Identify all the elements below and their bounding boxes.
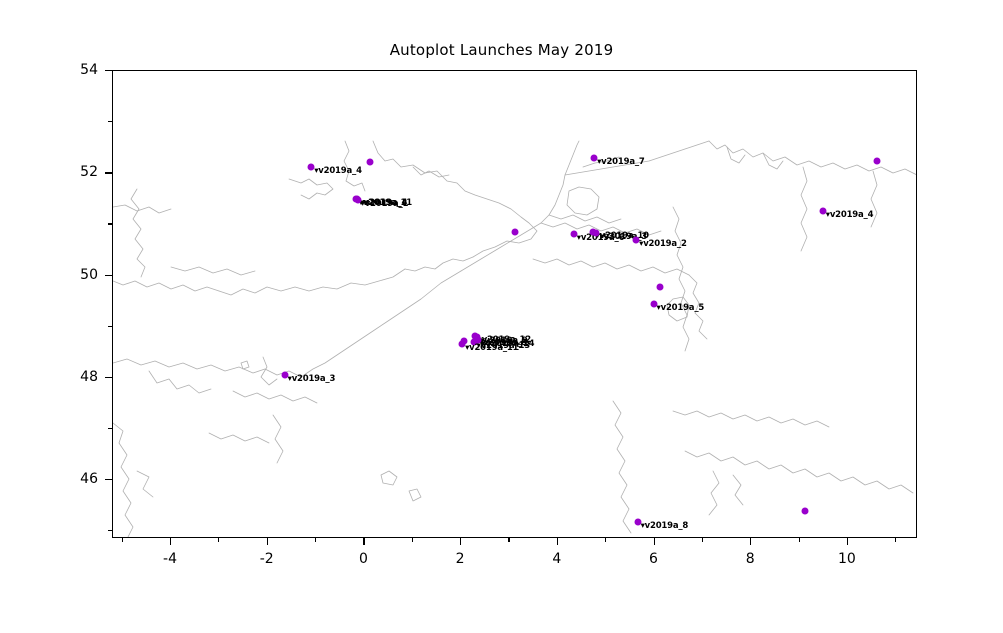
y-axis-minor-tick <box>108 428 112 429</box>
data-point-label: ▾v2019a_4 <box>314 166 362 176</box>
data-point-marker[interactable] <box>656 283 663 290</box>
x-axis-tick <box>847 538 848 545</box>
coastline-map <box>113 71 917 538</box>
data-point-marker[interactable] <box>873 157 880 164</box>
y-axis-tick-label: 46 <box>0 471 98 487</box>
x-axis-minor-tick <box>605 538 606 542</box>
plot-axes: ▾v2019a_4▾v2019a_11▾v2019a_4▾v2019a_1▾v2… <box>112 70 917 538</box>
plot-area: ▾v2019a_4▾v2019a_11▾v2019a_4▾v2019a_1▾v2… <box>113 71 916 537</box>
x-axis-tick <box>750 538 751 545</box>
x-axis-minor-tick <box>122 538 123 542</box>
x-axis-tick-label: 10 <box>838 551 856 567</box>
data-point-marker[interactable] <box>367 159 374 166</box>
x-axis-tick-label: 0 <box>359 551 368 567</box>
data-point-label: ▾v2019a_3 <box>288 374 336 384</box>
data-point-label: ▾v2019a_2 <box>639 239 687 249</box>
y-axis-tick <box>105 479 112 480</box>
data-point-label: ▾v2019a_7 <box>597 157 645 167</box>
y-axis-tick <box>105 377 112 378</box>
data-point-label: ▾v2019a_11 <box>465 343 518 353</box>
x-axis-tick <box>654 538 655 545</box>
y-axis-tick <box>105 275 112 276</box>
x-axis-minor-tick <box>315 538 316 542</box>
x-axis-tick <box>557 538 558 545</box>
y-axis-tick <box>105 70 112 71</box>
x-axis-tick <box>460 538 461 545</box>
data-point-marker[interactable] <box>802 507 809 514</box>
x-axis-tick-label: -4 <box>163 551 177 567</box>
y-axis-tick-label: 54 <box>0 62 98 78</box>
x-axis-tick-label: 6 <box>649 551 658 567</box>
x-axis-minor-tick <box>412 538 413 542</box>
x-axis-tick-label: 8 <box>746 551 755 567</box>
y-axis-minor-tick <box>108 121 112 122</box>
y-axis-tick <box>105 172 112 173</box>
x-axis-tick-label: 2 <box>456 551 465 567</box>
data-point-label: ▾v2019a_5 <box>657 303 705 313</box>
x-axis-tick <box>170 538 171 545</box>
x-axis-minor-tick <box>702 538 703 542</box>
x-axis-tick <box>363 538 364 545</box>
data-point-label: ▾v2019a_1 <box>361 199 409 209</box>
figure-canvas: Autoplot Launches May 2019 <box>0 0 1003 633</box>
y-axis-minor-tick <box>108 530 112 531</box>
x-axis-minor-tick <box>799 538 800 542</box>
y-axis-tick-label: 52 <box>0 164 98 180</box>
page-title: Autoplot Launches May 2019 <box>0 41 1003 59</box>
y-axis-minor-tick <box>108 326 112 327</box>
x-axis-minor-tick <box>508 538 509 542</box>
data-point-label: ▾v2019a_4 <box>826 210 874 220</box>
x-axis-tick-label: 4 <box>552 551 561 567</box>
y-axis-tick-label: 50 <box>0 267 98 283</box>
data-point-label: ▾v2019a_8 <box>641 521 689 531</box>
y-axis-tick-label: 48 <box>0 369 98 385</box>
x-axis-tick-label: -2 <box>260 551 274 567</box>
x-axis-tick <box>267 538 268 545</box>
x-axis-minor-tick <box>895 538 896 542</box>
y-axis-minor-tick <box>108 223 112 224</box>
x-axis-minor-tick <box>218 538 219 542</box>
data-point-marker[interactable] <box>512 229 519 236</box>
